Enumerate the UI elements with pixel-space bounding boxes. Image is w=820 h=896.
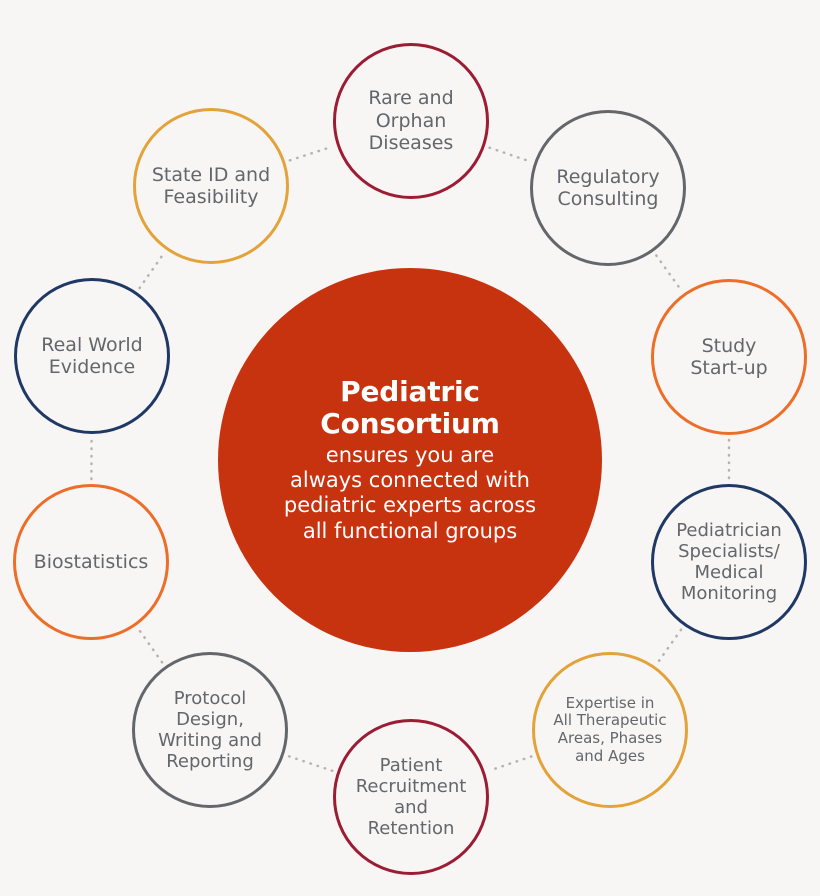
hub-title-line-1: Pediatric — [320, 376, 500, 407]
connector-pediatrician-specialists-medical-monitoring-to-expertise-in-all-therapeutic-areas-phases-and-ages — [658, 630, 681, 663]
node-circle-study-start-up[interactable]: Study Start-up — [651, 279, 807, 435]
connector-protocol-design-writing-and-reporting-to-biostatistics — [139, 630, 162, 663]
node-label-patient-recruitment-and-retention: Patient Recruitment and Retention — [348, 755, 475, 840]
node-label-expertise-in-all-therapeutic-areas-phases-and-ages: Expertise in All Therapeutic Areas, Phas… — [545, 695, 674, 766]
node-circle-regulatory-consulting[interactable]: Regulatory Consulting — [530, 110, 686, 266]
hub-circle-pediatric-consortium: Pediatric Consortium ensures you are alw… — [218, 268, 602, 652]
connector-patient-recruitment-and-retention-to-protocol-design-writing-and-reporting — [289, 756, 333, 771]
hub-title-line-2: Consortium — [320, 408, 500, 439]
connector-expertise-in-all-therapeutic-areas-phases-and-ages-to-patient-recruitment-and-retention — [490, 756, 532, 770]
node-label-pediatrician-specialists-medical-monitoring: Pediatrician Specialists/ Medical Monito… — [668, 520, 790, 605]
node-label-state-id-and-feasibility: State ID and Feasibility — [144, 164, 278, 209]
node-circle-real-world-evidence[interactable]: Real World Evidence — [14, 278, 170, 434]
node-circle-protocol-design-writing-and-reporting[interactable]: Protocol Design, Writing and Reporting — [132, 652, 288, 808]
node-label-regulatory-consulting: Regulatory Consulting — [548, 166, 667, 211]
node-circle-rare-and-orphan-diseases[interactable]: Rare and Orphan Diseases — [333, 43, 489, 199]
node-circle-patient-recruitment-and-retention[interactable]: Patient Recruitment and Retention — [333, 719, 489, 875]
hub-title: Pediatric Consortium — [320, 376, 500, 439]
connector-state-id-and-feasibility-to-rare-and-orphan-diseases — [290, 147, 332, 161]
connector-regulatory-consulting-to-study-start-up — [656, 255, 680, 289]
node-label-protocol-design-writing-and-reporting: Protocol Design, Writing and Reporting — [150, 688, 270, 773]
node-circle-biostatistics[interactable]: Biostatistics — [13, 484, 169, 640]
node-circle-expertise-in-all-therapeutic-areas-phases-and-ages[interactable]: Expertise in All Therapeutic Areas, Phas… — [532, 652, 688, 808]
node-label-real-world-evidence: Real World Evidence — [33, 334, 150, 379]
node-circle-state-id-and-feasibility[interactable]: State ID and Feasibility — [133, 108, 289, 264]
connector-real-world-evidence-to-state-id-and-feasibility — [140, 254, 164, 288]
hub-subtitle: ensures you are always connected with pe… — [284, 443, 536, 544]
node-label-rare-and-orphan-diseases: Rare and Orphan Diseases — [360, 87, 461, 154]
node-circle-pediatrician-specialists-medical-monitoring[interactable]: Pediatrician Specialists/ Medical Monito… — [651, 484, 807, 640]
node-label-study-start-up: Study Start-up — [682, 335, 775, 380]
diagram-canvas: Pediatric Consortium ensures you are alw… — [0, 0, 820, 896]
connector-rare-and-orphan-diseases-to-regulatory-consulting — [490, 148, 530, 162]
node-label-biostatistics: Biostatistics — [26, 551, 157, 573]
